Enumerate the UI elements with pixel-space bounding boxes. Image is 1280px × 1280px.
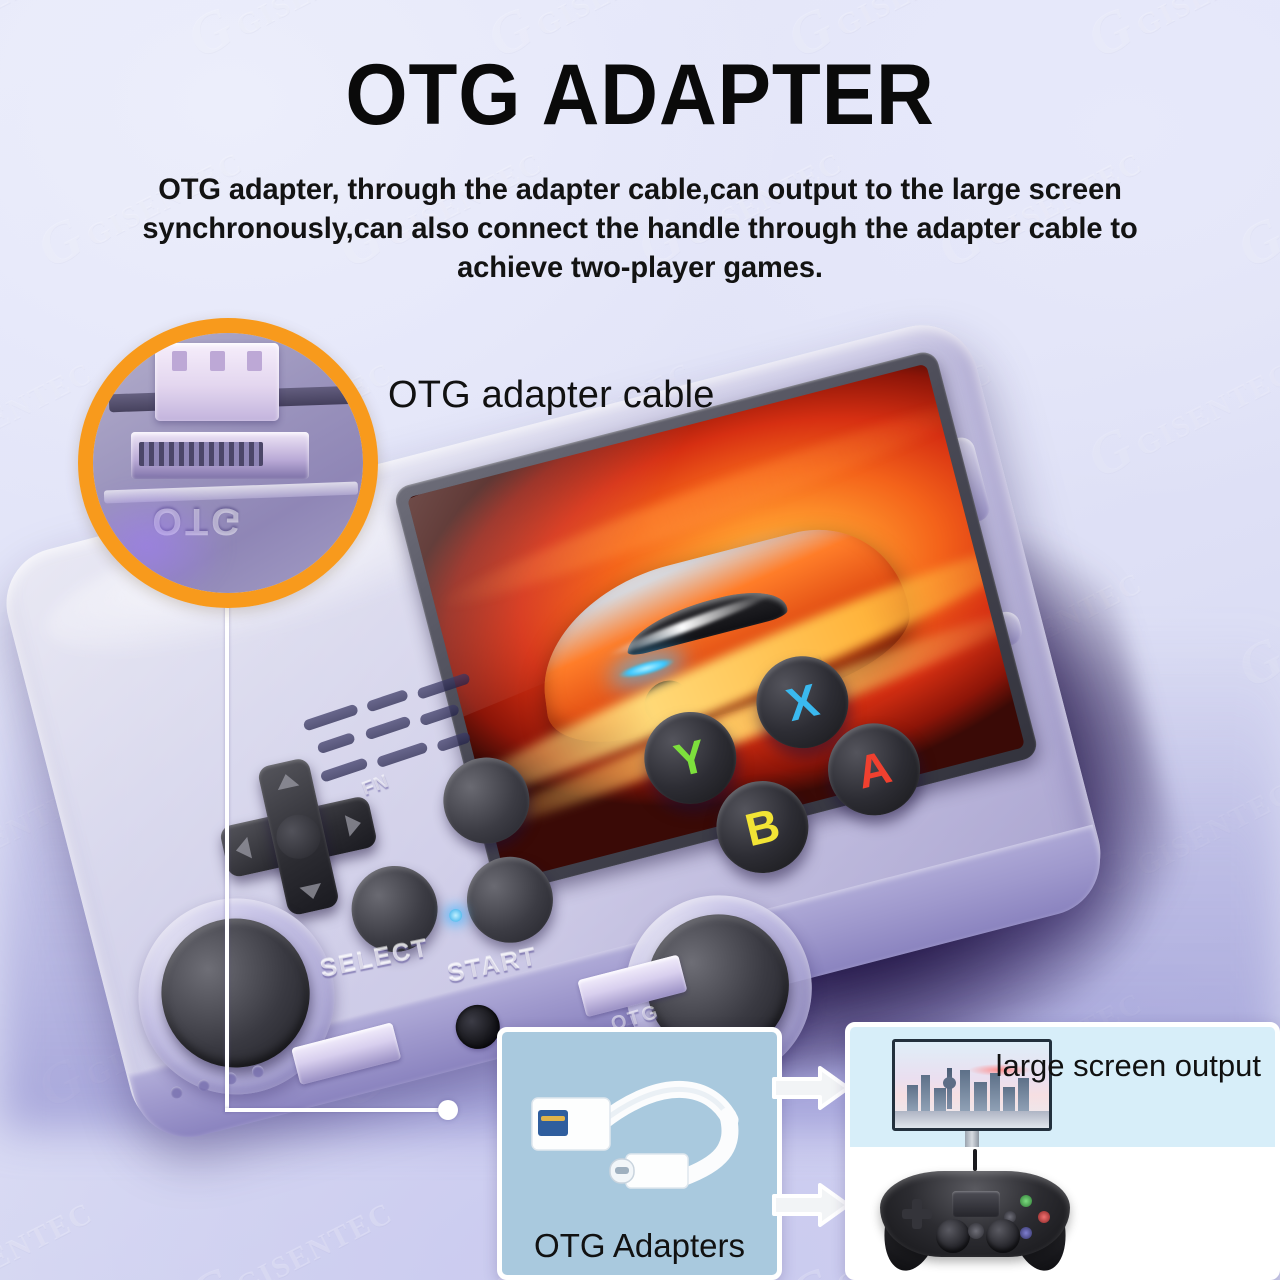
outputs-panel: large screen output Connect the gamepad	[845, 1022, 1280, 1280]
gamepad-dpad	[902, 1199, 932, 1229]
gamepad-cord	[973, 1149, 977, 1171]
header: OTG ADAPTER OTG adapter, through the ada…	[0, 0, 1280, 288]
building	[934, 1088, 946, 1110]
gamepad-stick-left	[936, 1219, 970, 1253]
car-headlight	[616, 654, 676, 683]
gamepad-body	[880, 1171, 1070, 1257]
otg-port-callout: OTG	[78, 318, 378, 608]
building	[960, 1070, 971, 1111]
vent-slot	[376, 741, 429, 768]
vent-slot	[364, 715, 411, 740]
gamepad-button-bottom	[1020, 1227, 1032, 1239]
leader-line-endpoint	[438, 1100, 458, 1120]
screw-dot	[169, 1085, 184, 1100]
vent-slot	[436, 731, 472, 752]
watermark: GGISENTEC	[0, 1174, 102, 1280]
large-screen-output-label: large screen output	[996, 1049, 1261, 1083]
button-x-label: X	[781, 672, 823, 732]
gamepad-home-button	[968, 1223, 984, 1239]
large-screen-row: large screen output	[850, 1027, 1275, 1147]
building	[921, 1075, 930, 1111]
watermark: GGISENTEC	[177, 1174, 401, 1280]
tower	[947, 1068, 952, 1109]
otg-adapters-caption: OTG Adapters	[502, 1227, 777, 1265]
callout-ring	[78, 318, 378, 608]
screw-dot	[251, 1064, 266, 1079]
vent-slot	[316, 732, 356, 754]
arrow-to-monitor	[772, 1063, 850, 1113]
button-y-label: Y	[669, 728, 711, 788]
vent-slot	[419, 703, 460, 726]
otg-adapter-panel: OTG Adapters	[497, 1027, 782, 1280]
leader-line-vertical	[225, 600, 229, 1112]
button-b-label: B	[740, 797, 785, 857]
building	[907, 1085, 918, 1111]
gamepad-button-top	[1020, 1195, 1032, 1207]
gamepad-stick-right	[986, 1219, 1020, 1253]
button-a-label: A	[852, 739, 897, 799]
arrow-to-gamepad	[772, 1180, 850, 1230]
page-subtitle: OTG adapter, through the adapter cable,c…	[88, 170, 1191, 288]
otg-cable-illustration	[514, 1056, 776, 1206]
building	[974, 1082, 988, 1111]
dpad-bar	[912, 1199, 922, 1229]
page-title: OTG ADAPTER	[45, 52, 1235, 138]
building	[1003, 1087, 1015, 1111]
screw-dot	[196, 1078, 211, 1093]
callout-label: OTG adapter cable	[388, 374, 715, 417]
leader-line-horizontal	[225, 1108, 447, 1112]
water-reflection	[895, 1111, 1049, 1128]
gamepad-touchpad	[952, 1191, 1000, 1217]
gamepad-row: Connect the gamepad	[850, 1147, 1275, 1280]
gamepad-button-right	[1038, 1211, 1050, 1223]
gamepad-icon	[880, 1161, 1070, 1276]
